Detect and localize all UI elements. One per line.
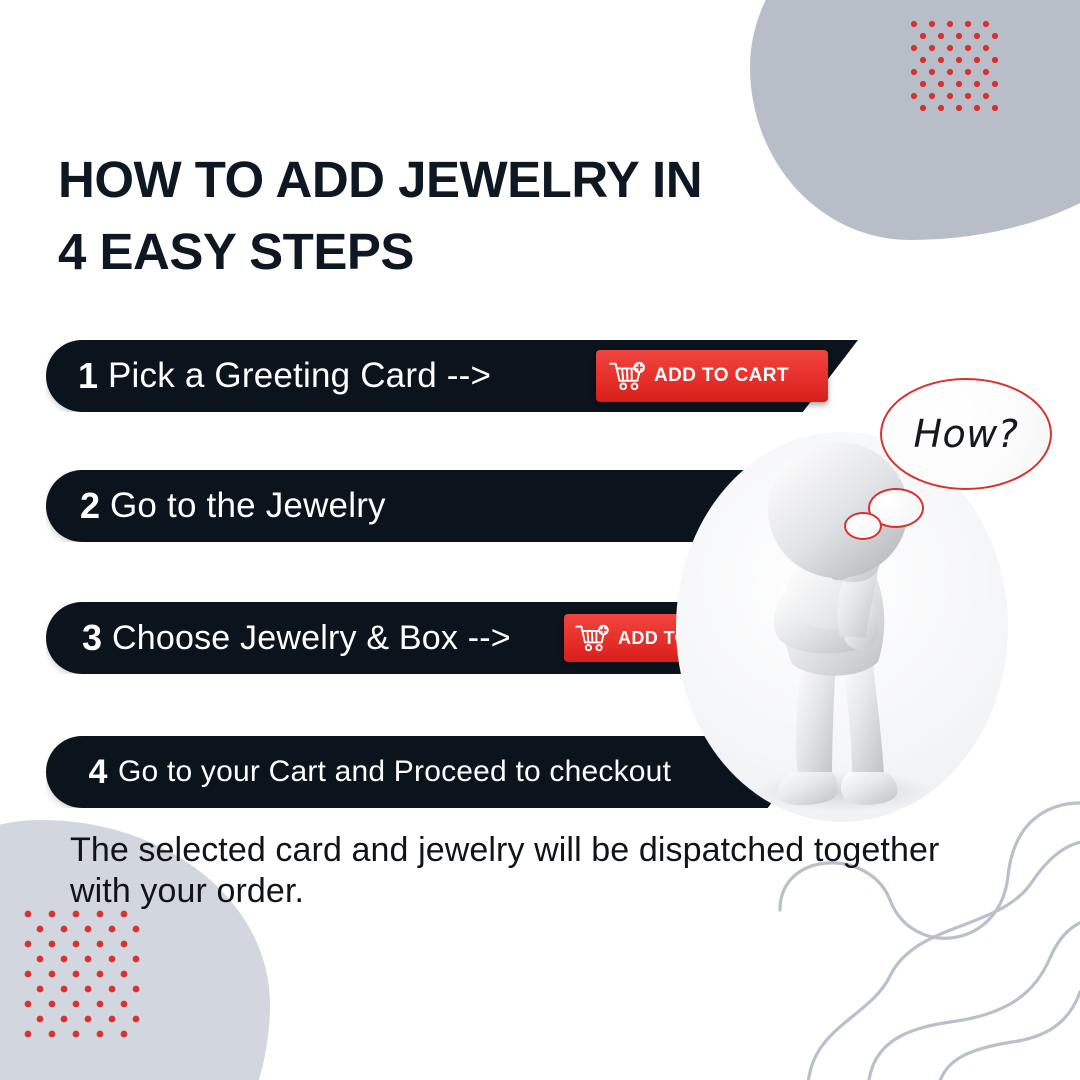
red-dot-grid-bottom-left [22, 908, 187, 1038]
page-title-line-2: 4 EASY STEPS [58, 216, 958, 288]
add-to-cart-label-1: ADD TO CART [654, 365, 789, 387]
thought-bubble-tail-small [844, 512, 882, 540]
thought-bubble: How? [880, 378, 1052, 490]
thought-bubble-text: How? [913, 412, 1018, 456]
add-to-cart-button-1[interactable]: ADD TO CART [596, 350, 828, 402]
footer-note: The selected card and jewelry will be di… [70, 830, 990, 913]
shopping-cart-add-icon [574, 623, 610, 653]
shopping-cart-add-icon [608, 360, 646, 392]
step-label-4: Go to your Cart and Proceed to checkout [118, 755, 671, 789]
step-label-1: Pick a Greeting Card --> [108, 356, 491, 396]
step-number-1: 1 [68, 358, 108, 394]
page-title: HOW TO ADD JEWELRY IN 4 EASY STEPS [58, 144, 958, 289]
page-title-line-1: HOW TO ADD JEWELRY IN [58, 151, 702, 208]
step-label-3: Choose Jewelry & Box --> [112, 619, 511, 658]
step-number-4: 4 [78, 755, 118, 789]
thinking-mannequin-figure [676, 440, 1006, 840]
step-number-3: 3 [72, 620, 112, 656]
step-label-2: Go to the Jewelry [110, 486, 386, 526]
red-dot-grid-top-right [908, 18, 1038, 113]
step-number-2: 2 [70, 488, 110, 524]
step-item-2[interactable]: 2 Go to the Jewelry [46, 470, 748, 542]
poster-canvas: HOW TO ADD JEWELRY IN 4 EASY STEPS 1 Pic… [0, 0, 1080, 1080]
